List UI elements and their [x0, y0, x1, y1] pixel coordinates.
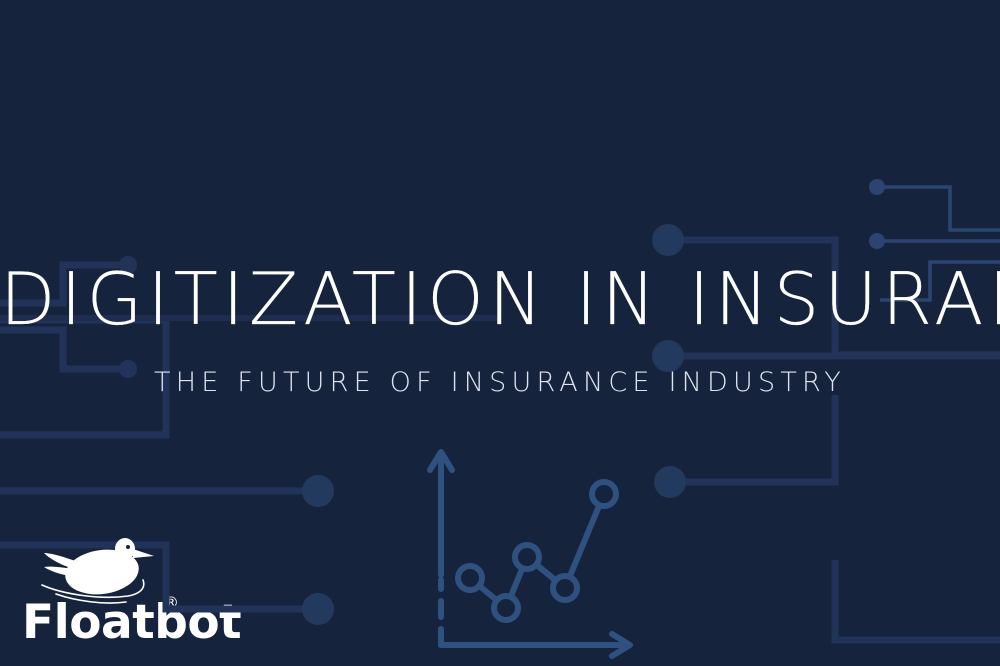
swan-eye — [126, 545, 130, 549]
swan-ripple-line — [56, 594, 126, 603]
poster-canvas: DIGITIZATION IN INSURANCE THE FUTURE OF … — [0, 0, 1000, 666]
swan-beak — [133, 549, 154, 558]
swan-icon — [44, 538, 154, 599]
floatbot-logo — [0, 0, 1000, 666]
swan-head — [115, 538, 135, 560]
